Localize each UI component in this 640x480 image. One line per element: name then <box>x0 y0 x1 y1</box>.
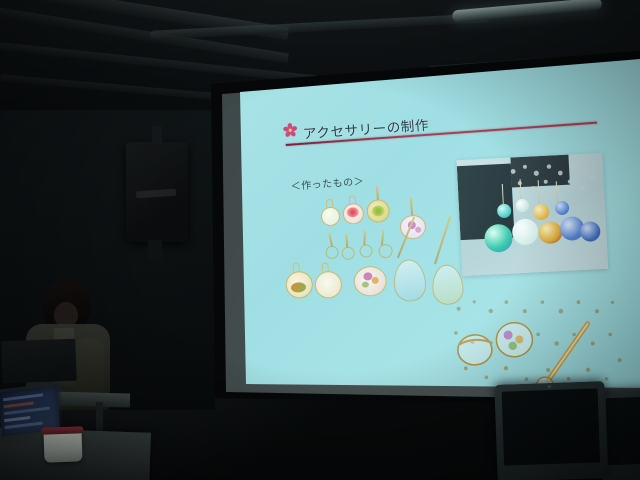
bead <box>580 221 601 242</box>
bead <box>533 204 550 221</box>
monitor-screen <box>606 396 640 465</box>
sakura-flower-icon <box>282 122 298 138</box>
bead <box>555 201 570 216</box>
beaded-charms-photo <box>457 153 609 276</box>
webcam-icon <box>547 385 551 388</box>
speaker-bracket <box>148 240 162 260</box>
classroom-photo-scene: アクセサリーの制作 ＜作ったもの＞ <box>0 0 640 480</box>
presenter-arm <box>74 338 104 400</box>
bead <box>512 218 539 245</box>
slide-content: アクセサリーの制作 ＜作ったもの＞ <box>232 58 640 398</box>
ceiling-beam <box>0 40 319 83</box>
fluorescent-light-fixture <box>452 0 602 23</box>
speaker-grille <box>136 189 176 199</box>
bead <box>516 199 530 213</box>
wall-speaker <box>126 142 188 242</box>
laptop-lid <box>1 339 76 384</box>
bead <box>484 224 513 253</box>
computer-monitor <box>494 381 607 480</box>
monitor-screen <box>502 388 601 465</box>
bead <box>538 221 563 244</box>
speaker-mount-icon <box>152 126 162 144</box>
projected-slide: アクセサリーの制作 ＜作ったもの＞ <box>232 58 640 398</box>
cup <box>43 429 82 462</box>
slide-subtitle: ＜作ったもの＞ <box>290 172 364 192</box>
cup-lid <box>41 426 83 434</box>
